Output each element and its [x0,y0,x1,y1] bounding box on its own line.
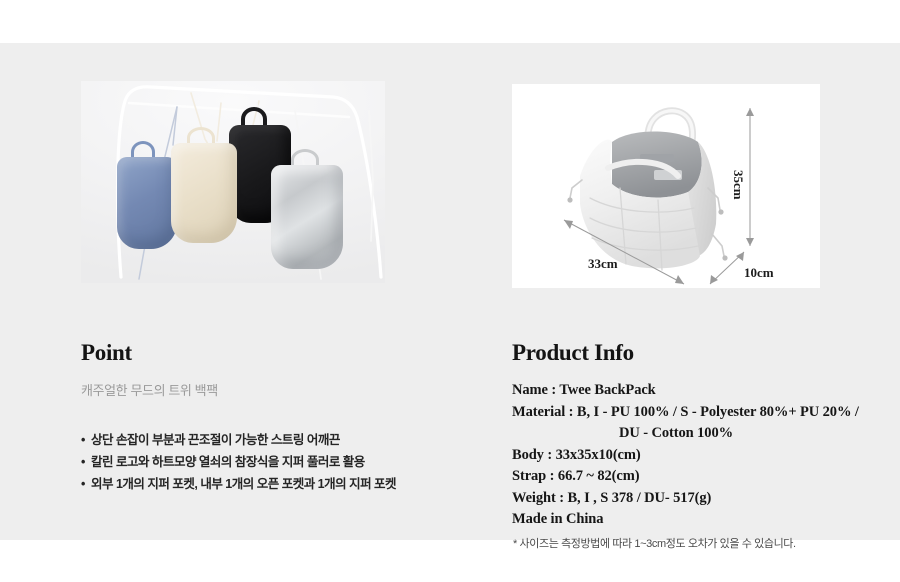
point-column: Point 캐주얼한 무드의 트위 백팩 상단 손잡이 부분과 끈조절이 가능한… [0,43,450,540]
spec-strap: Strap : 66.7 ~ 82(cm) [512,466,900,488]
height-dimension-label: 35cm [730,170,746,200]
width-dimension-label: 33cm [588,256,618,272]
spec-name: Name : Twee BackPack [512,380,900,402]
depth-dimension-label: 10cm [744,265,774,281]
bag-ivory-body [171,143,237,243]
bag-dimension-illustration [512,84,820,288]
bag-silver-body [271,165,343,269]
spec-origin: Made in China [512,509,900,531]
spec-material: Material : B, I - PU 100% / S - Polyeste… [512,402,900,424]
spec-material-continued: DU - Cotton 100% [512,423,900,445]
product-lineup-photo [81,81,385,283]
list-item: 상단 손잡이 부분과 끈조절이 가능한 스트링 어깨끈 [81,429,396,451]
product-detail-page: Point 캐주얼한 무드의 트위 백팩 상단 손잡이 부분과 끈조절이 가능한… [0,0,900,582]
list-item: 칼린 로고와 하트모양 열쇠의 참장식을 지퍼 풀러로 활용 [81,451,396,473]
spec-weight: Weight : B, I , S 378 / DU- 517(g) [512,488,900,510]
spec-body: Body : 33x35x10(cm) [512,445,900,467]
product-info-column: 33cm 10cm 35cm Product Info Name : Twee … [450,43,900,540]
bag-blue [117,157,177,249]
product-info-heading: Product Info [512,340,634,365]
bag-blue-body [117,157,177,249]
point-heading: Point [81,340,132,365]
size-disclaimer-note: * 사이즈는 측정방법에 따라 1~3cm정도 오차가 있을 수 있습니다. [513,535,796,551]
list-item: 외부 1개의 지퍼 포켓, 내부 1개의 오픈 포켓과 1개의 지퍼 포켓 [81,473,396,495]
bag-silver [271,165,343,269]
dimension-diagram-photo: 33cm 10cm 35cm [512,84,820,288]
content-columns: Point 캐주얼한 무드의 트위 백팩 상단 손잡이 부분과 끈조절이 가능한… [0,43,900,540]
point-bullet-list: 상단 손잡이 부분과 끈조절이 가능한 스트링 어깨끈 칼린 로고와 하트모양 … [81,429,396,495]
point-subtitle: 캐주얼한 무드의 트위 백팩 [81,380,218,399]
bag-ivory [171,143,237,243]
product-spec-list: Name : Twee BackPack Material : B, I - P… [512,380,900,531]
